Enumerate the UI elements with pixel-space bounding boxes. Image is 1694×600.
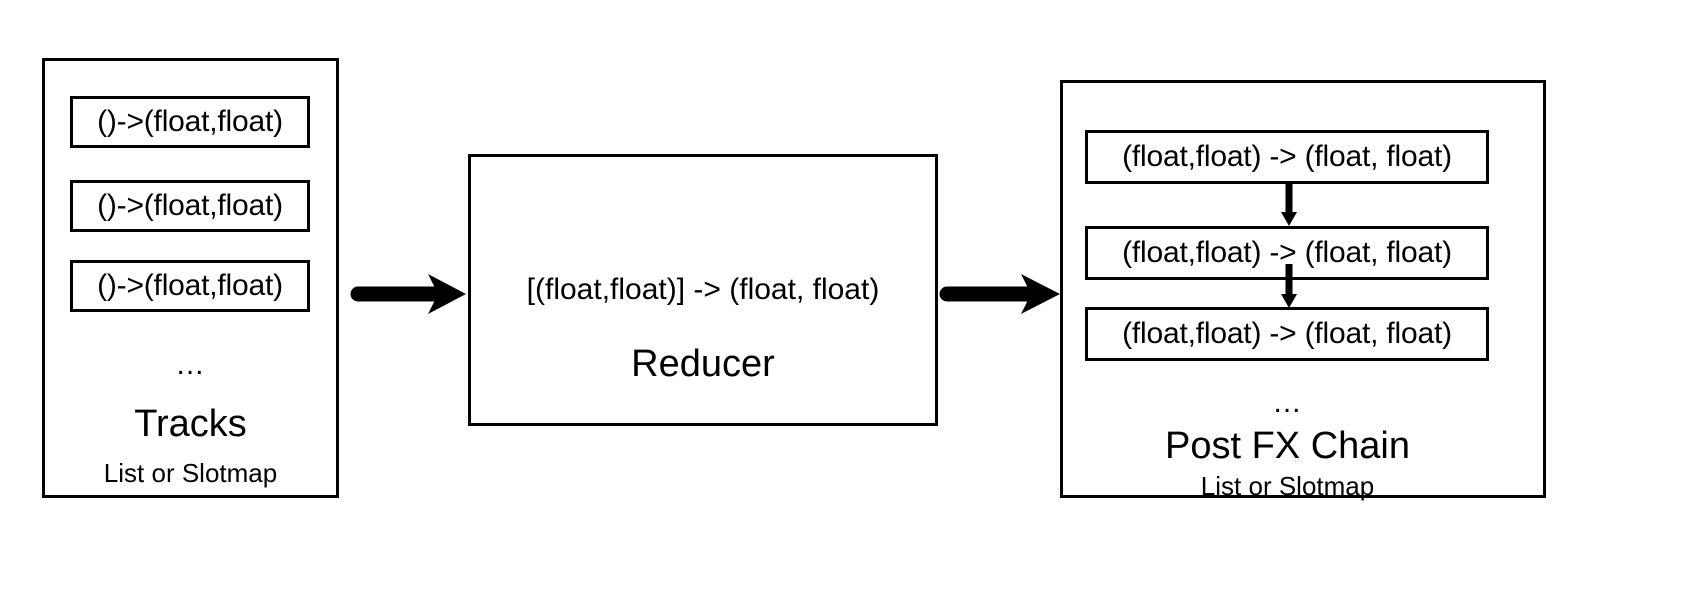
arrow-tracks-to-reducer bbox=[352, 272, 467, 316]
post-fx-item-3-label: (float,float) -> (float, float) bbox=[1122, 319, 1452, 349]
track-item-3[interactable]: ()->(float,float) bbox=[70, 260, 310, 312]
reducer-label: Reducer bbox=[468, 345, 938, 383]
track-item-2-label: ()->(float,float) bbox=[97, 191, 283, 221]
arrow-fx2-to-fx3 bbox=[1277, 264, 1301, 308]
post-fx-group-title: Post FX Chain bbox=[1060, 427, 1515, 465]
tracks-group-subtitle: List or Slotmap bbox=[42, 460, 339, 486]
track-item-1[interactable]: ()->(float,float) bbox=[70, 96, 310, 148]
post-fx-item-1-label: (float,float) -> (float, float) bbox=[1122, 142, 1452, 172]
tracks-group-title: Tracks bbox=[42, 405, 339, 443]
post-fx-ellipsis: ... bbox=[1060, 388, 1515, 418]
diagram-canvas: ()->(float,float) ()->(float,float) ()->… bbox=[0, 0, 1694, 600]
reducer-signature: [(float,float)] -> (float, float) bbox=[468, 275, 938, 305]
tracks-ellipsis: ... bbox=[42, 350, 339, 380]
post-fx-group-subtitle: List or Slotmap bbox=[1060, 473, 1515, 499]
post-fx-item-3[interactable]: (float,float) -> (float, float) bbox=[1085, 307, 1489, 361]
arrow-reducer-to-postfx bbox=[941, 272, 1061, 316]
track-item-3-label: ()->(float,float) bbox=[97, 271, 283, 301]
arrow-fx1-to-fx2 bbox=[1277, 182, 1301, 226]
post-fx-item-1[interactable]: (float,float) -> (float, float) bbox=[1085, 130, 1489, 184]
track-item-2[interactable]: ()->(float,float) bbox=[70, 180, 310, 232]
track-item-1-label: ()->(float,float) bbox=[97, 107, 283, 137]
